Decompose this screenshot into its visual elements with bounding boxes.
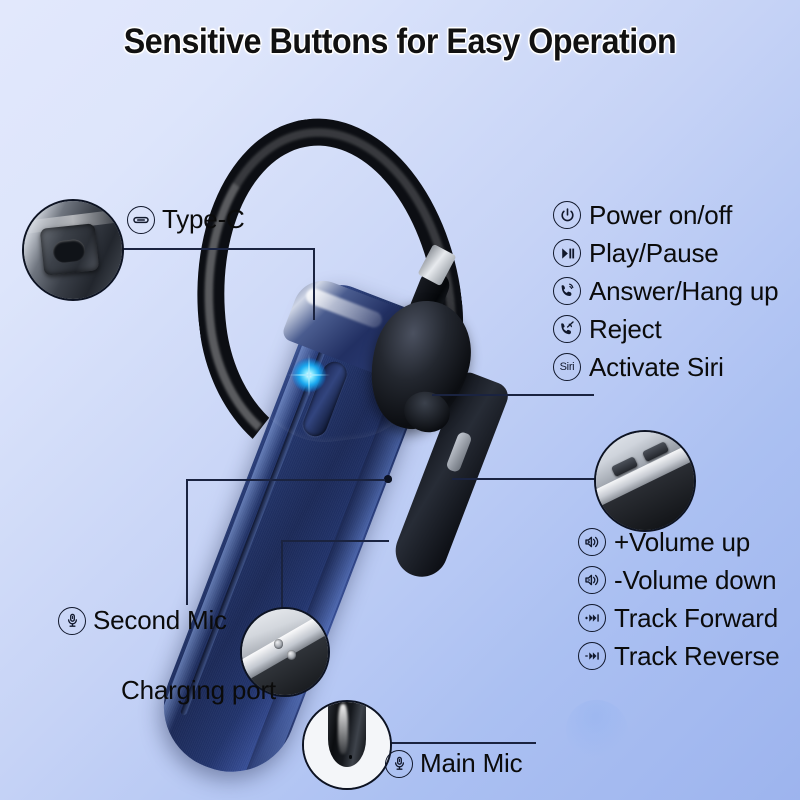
legend-item-reject: Reject — [553, 310, 778, 348]
legend-item-track-reverse: Track Reverse — [578, 637, 779, 675]
microphone-icon — [58, 607, 86, 635]
leader-line-type-c-h — [100, 248, 314, 250]
callout-second-mic: Second Mic — [58, 605, 227, 636]
power-icon — [553, 201, 581, 229]
usb-c-icon — [127, 206, 155, 234]
phone-answer-icon — [553, 277, 581, 305]
callout-charging-port-label: Charging port — [121, 675, 276, 706]
callout-main-mic-label: Main Mic — [420, 748, 522, 779]
legend-item-answer-label: Answer/Hang up — [589, 276, 778, 307]
legend-item-answer: Answer/Hang up — [553, 272, 778, 310]
legend-item-volume-down-label: -Volume down — [614, 565, 776, 596]
track-reverse-icon — [578, 642, 606, 670]
callout-main-mic: Main Mic — [385, 748, 522, 779]
legend-item-track-forward-label: Track Forward — [614, 603, 778, 634]
volume-up-icon — [578, 528, 606, 556]
microphone-icon — [385, 750, 413, 778]
leader-line-type-c-v — [313, 248, 315, 320]
leader-line-charging-h — [281, 540, 389, 542]
leader-line-second-mic-v — [186, 479, 188, 605]
controls-legend: Power on/off Play/Pause Answer/Hang — [553, 196, 778, 386]
phone-reject-icon — [553, 315, 581, 343]
legend-item-power-label: Power on/off — [589, 200, 732, 231]
siri-icon-text: Siri — [560, 362, 575, 373]
leader-line-main-mic — [388, 742, 536, 744]
legend-item-volume-up: +Volume up — [578, 523, 779, 561]
inset-volume-buttons-photo — [594, 430, 696, 532]
leader-dot-second-mic — [385, 476, 392, 483]
leader-line-second-mic-h — [186, 479, 388, 481]
legend-item-track-forward: Track Forward — [578, 599, 779, 637]
legend-item-siri-label: Activate Siri — [589, 352, 724, 383]
legend-item-volume-down: -Volume down — [578, 561, 779, 599]
body-tip-highlight — [557, 691, 636, 769]
play-pause-icon — [553, 239, 581, 267]
volume-down-icon — [578, 566, 606, 594]
leader-line-controls — [432, 394, 594, 396]
legend-item-reject-label: Reject — [589, 314, 662, 345]
callout-second-mic-label: Second Mic — [93, 605, 227, 636]
legend-item-siri: Siri Activate Siri — [553, 348, 778, 386]
led-sparkle — [288, 354, 330, 396]
callout-charging-port: Charging port — [121, 675, 276, 706]
inset-type-c-photo — [22, 199, 124, 301]
callout-type-c: Type-C — [127, 204, 245, 235]
legend-item-volume-up-label: +Volume up — [614, 527, 750, 558]
inset-main-mic-photo — [302, 700, 392, 790]
volume-legend: +Volume up -Volume down — [578, 523, 779, 675]
legend-item-play-pause: Play/Pause — [553, 234, 778, 272]
track-forward-icon — [578, 604, 606, 632]
leader-line-volume — [452, 478, 610, 480]
siri-icon: Siri — [553, 353, 581, 381]
legend-item-power: Power on/off — [553, 196, 778, 234]
legend-item-track-reverse-label: Track Reverse — [614, 641, 779, 672]
callout-type-c-label: Type-C — [162, 204, 245, 235]
legend-item-play-pause-label: Play/Pause — [589, 238, 719, 269]
product-infographic: Sensitive Buttons for Easy Operation — [0, 0, 800, 800]
headset-illustration — [0, 0, 800, 800]
